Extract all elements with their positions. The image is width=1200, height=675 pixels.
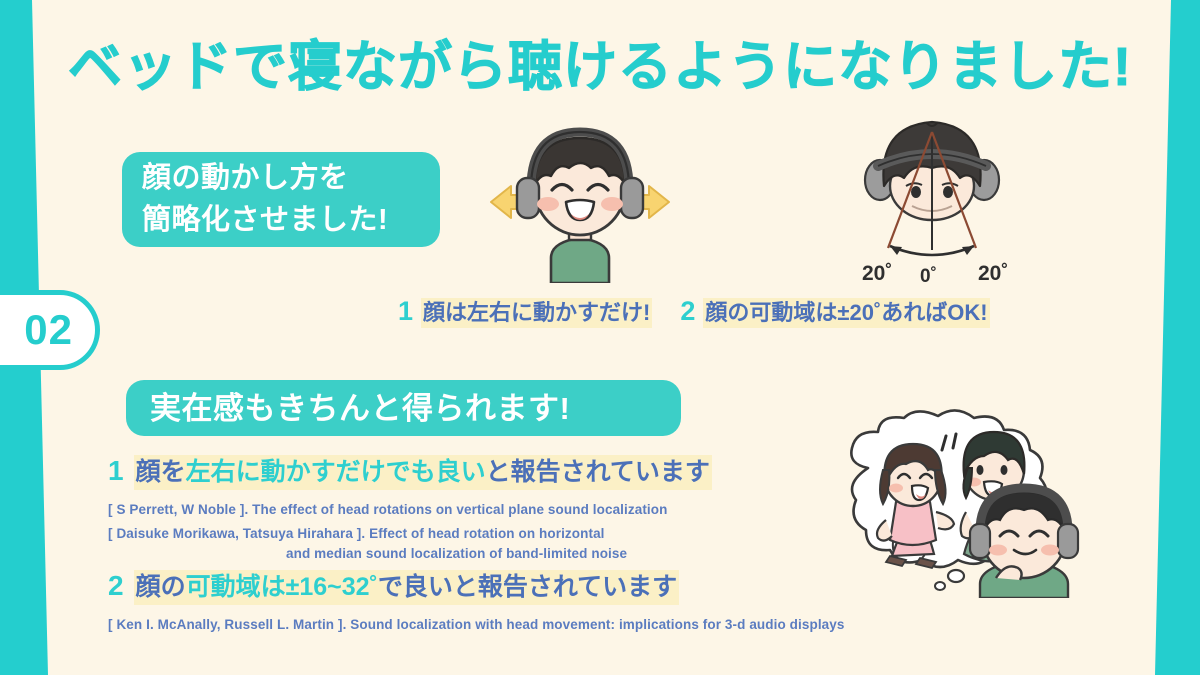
caption-index-2: 2 <box>680 298 695 325</box>
slide-root: ベッドで寝ながら聴けるようになりました! 02 顔の動かし方を 簡略化させました… <box>0 0 1200 675</box>
caption-item-2: 2 顔の可動域は±20˚あればOK! <box>680 298 989 328</box>
evidence-2-citation-1: [ Ken I. McAnally, Russell L. Martin ]. … <box>108 615 845 635</box>
evidence-1-citation-2-line1: [ Daisuke Morikawa, Tatsuya Hirahara ]. … <box>108 526 605 541</box>
illustration-boy-headphones <box>455 118 705 283</box>
caption-text-1: 顔は左右に動かすだけ! <box>421 298 652 328</box>
angle-label-right: 20˚ <box>978 262 1008 285</box>
evidence-1-index: 1 <box>108 457 124 485</box>
illustration-thought-bubble <box>828 408 1096 598</box>
caption-row: 1 顔は左右に動かすだけ! 2 顔の可動域は±20˚あればOK! <box>398 298 990 328</box>
listener-headphones-figure <box>970 488 1078 598</box>
evidence-2-tail: で良いと報告されています <box>378 573 677 601</box>
evidence-2-index: 2 <box>108 572 124 600</box>
heading-box-presence: 実在感もきちんと得られます! <box>126 380 681 436</box>
evidence-1-citation-2: [ Daisuke Morikawa, Tatsuya Hirahara ]. … <box>108 524 712 565</box>
evidence-1-line: 顔を左右に動かすだけでも良いと報告されています <box>134 455 712 490</box>
heading-box-presence-label: 実在感もきちんと得られます! <box>150 393 657 424</box>
page-title: ベッドで寝ながら聴けるようになりました! <box>0 22 1200 101</box>
evidence-1-tail: と報告されています <box>486 458 710 486</box>
boy-headphones-svg <box>455 118 705 283</box>
evidence-1-lead: 顔を <box>136 458 186 486</box>
evidence-2-heading: 2 顔の可動域は±16~32˚で良いと報告されています <box>108 570 845 605</box>
heading-box-simplify-line2: 簡略化させました! <box>142 200 420 241</box>
evidence-item-2: 2 顔の可動域は±16~32˚で良いと報告されています [ Ken I. McA… <box>108 570 845 635</box>
evidence-1-highlight: 左右に動かすだけでも良い <box>186 458 486 486</box>
evidence-1-heading: 1 顔を左右に動かすだけでも良いと報告されています <box>108 455 712 490</box>
section-number-badge: 02 <box>0 290 100 370</box>
caption-index-1: 1 <box>398 298 413 325</box>
caption-text-2: 顔の可動域は±20˚あればOK! <box>703 298 989 328</box>
thought-bubble-svg <box>828 408 1096 598</box>
angle-label-left: 20˚ <box>862 262 892 285</box>
evidence-2-highlight: 可動域は±16~32˚ <box>186 573 378 601</box>
angle-label-center: 0˚ <box>920 266 937 287</box>
evidence-2-line: 顔の可動域は±16~32˚で良いと報告されています <box>134 570 680 605</box>
evidence-item-1: 1 顔を左右に動かすだけでも良いと報告されています [ S Perrett, W… <box>108 455 712 564</box>
section-number-label: 02 <box>24 309 73 351</box>
illustration-head-rotation-angles: 20˚ 0˚ 20˚ <box>832 108 1072 288</box>
head-top-view-svg: 20˚ 0˚ 20˚ <box>832 108 1072 288</box>
heading-box-simplify-line1: 顔の動かし方を <box>142 158 420 199</box>
evidence-1-citation-2-line2: and median sound localization of band-li… <box>108 544 712 564</box>
heading-box-simplify: 顔の動かし方を 簡略化させました! <box>122 152 440 247</box>
evidence-2-lead: 顔の <box>136 573 186 601</box>
caption-item-1: 1 顔は左右に動かすだけ! <box>398 298 652 328</box>
evidence-1-citation-1: [ S Perrett, W Noble ]. The effect of he… <box>108 500 712 520</box>
